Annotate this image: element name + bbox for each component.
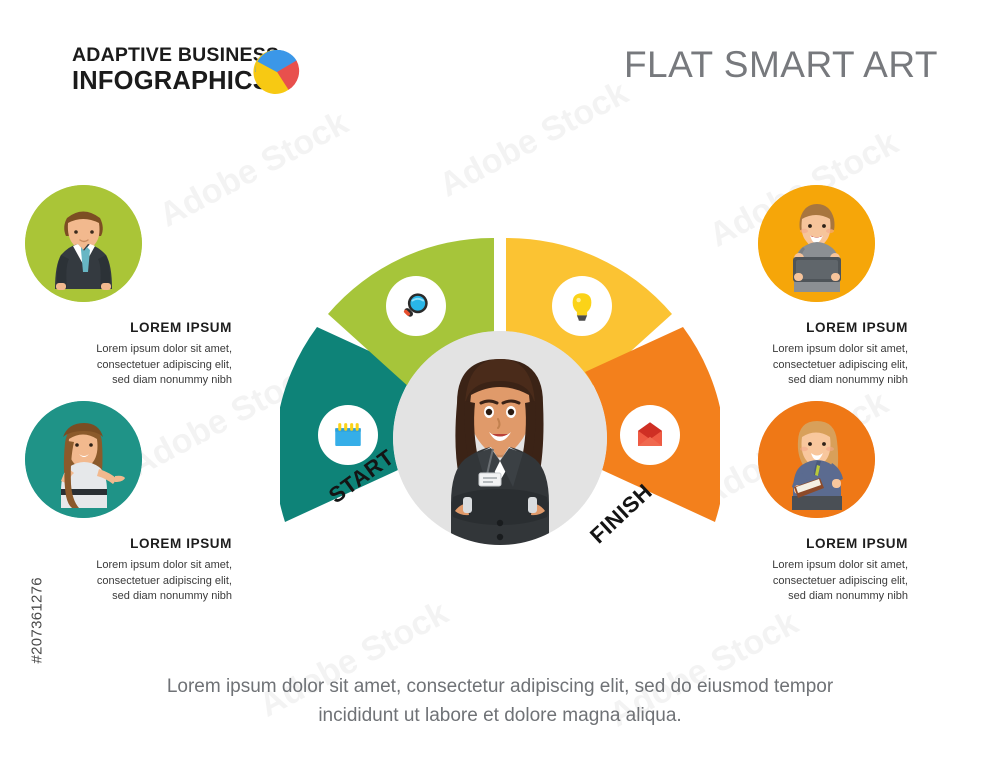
footer-line-1: Lorem ipsum dolor sit amet, consectetur … [0, 673, 1000, 702]
woman-with-tablet-avatar-icon [758, 185, 875, 302]
person-body-line: sed diam nonummy nibh [0, 373, 232, 389]
person-body-line: consectetuer adipiscing elit, [0, 358, 232, 374]
footer-caption: Lorem ipsum dolor sit amet, consectetur … [0, 673, 1000, 730]
person-body-line: Lorem ipsum dolor sit amet, [668, 558, 908, 574]
person-body-line: consectetuer adipiscing elit, [668, 574, 908, 590]
person-body-line: sed diam nonummy nibh [668, 589, 908, 605]
brand-line-2: INFOGRAPHICS [72, 68, 392, 94]
person-title-1: LOREM IPSUM [0, 320, 232, 335]
lightbulb-icon[interactable] [552, 276, 612, 336]
person-body-4: Lorem ipsum dolor sit amet, consectetuer… [668, 558, 908, 605]
infographic-canvas: Adobe Stock Adobe Stock Adobe Stock Adob… [0, 0, 1000, 781]
watermark-tile: Adobe Stock [153, 104, 355, 236]
brand-wordmark: ADAPTIVE BUSINESS INFOGRAPHICS [72, 46, 392, 94]
watermark-tile: Adobe Stock [433, 74, 635, 206]
pointing-woman-avatar-icon [25, 401, 142, 518]
businesswoman-center-avatar-icon [393, 331, 607, 545]
businessman-avatar-icon [25, 185, 142, 302]
asset-id-watermark: #207361276 [29, 504, 46, 664]
woman-with-notebook-avatar-icon [758, 401, 875, 518]
person-body-1: Lorem ipsum dolor sit amet, consectetuer… [0, 342, 232, 389]
person-text-1: LOREM IPSUM Lorem ipsum dolor sit amet, … [0, 320, 232, 389]
process-arch-diagram: START FINISH [280, 222, 720, 552]
magnifier-icon[interactable] [386, 276, 446, 336]
envelope-icon[interactable] [620, 405, 680, 465]
page-title: FLAT SMART ART [624, 44, 938, 86]
pie-chart-logo-icon [253, 48, 301, 96]
person-body-line: Lorem ipsum dolor sit amet, [0, 342, 232, 358]
footer-line-2: incididunt ut labore et dolore magna ali… [0, 702, 1000, 731]
brand-line-1: ADAPTIVE BUSINESS [72, 46, 392, 66]
